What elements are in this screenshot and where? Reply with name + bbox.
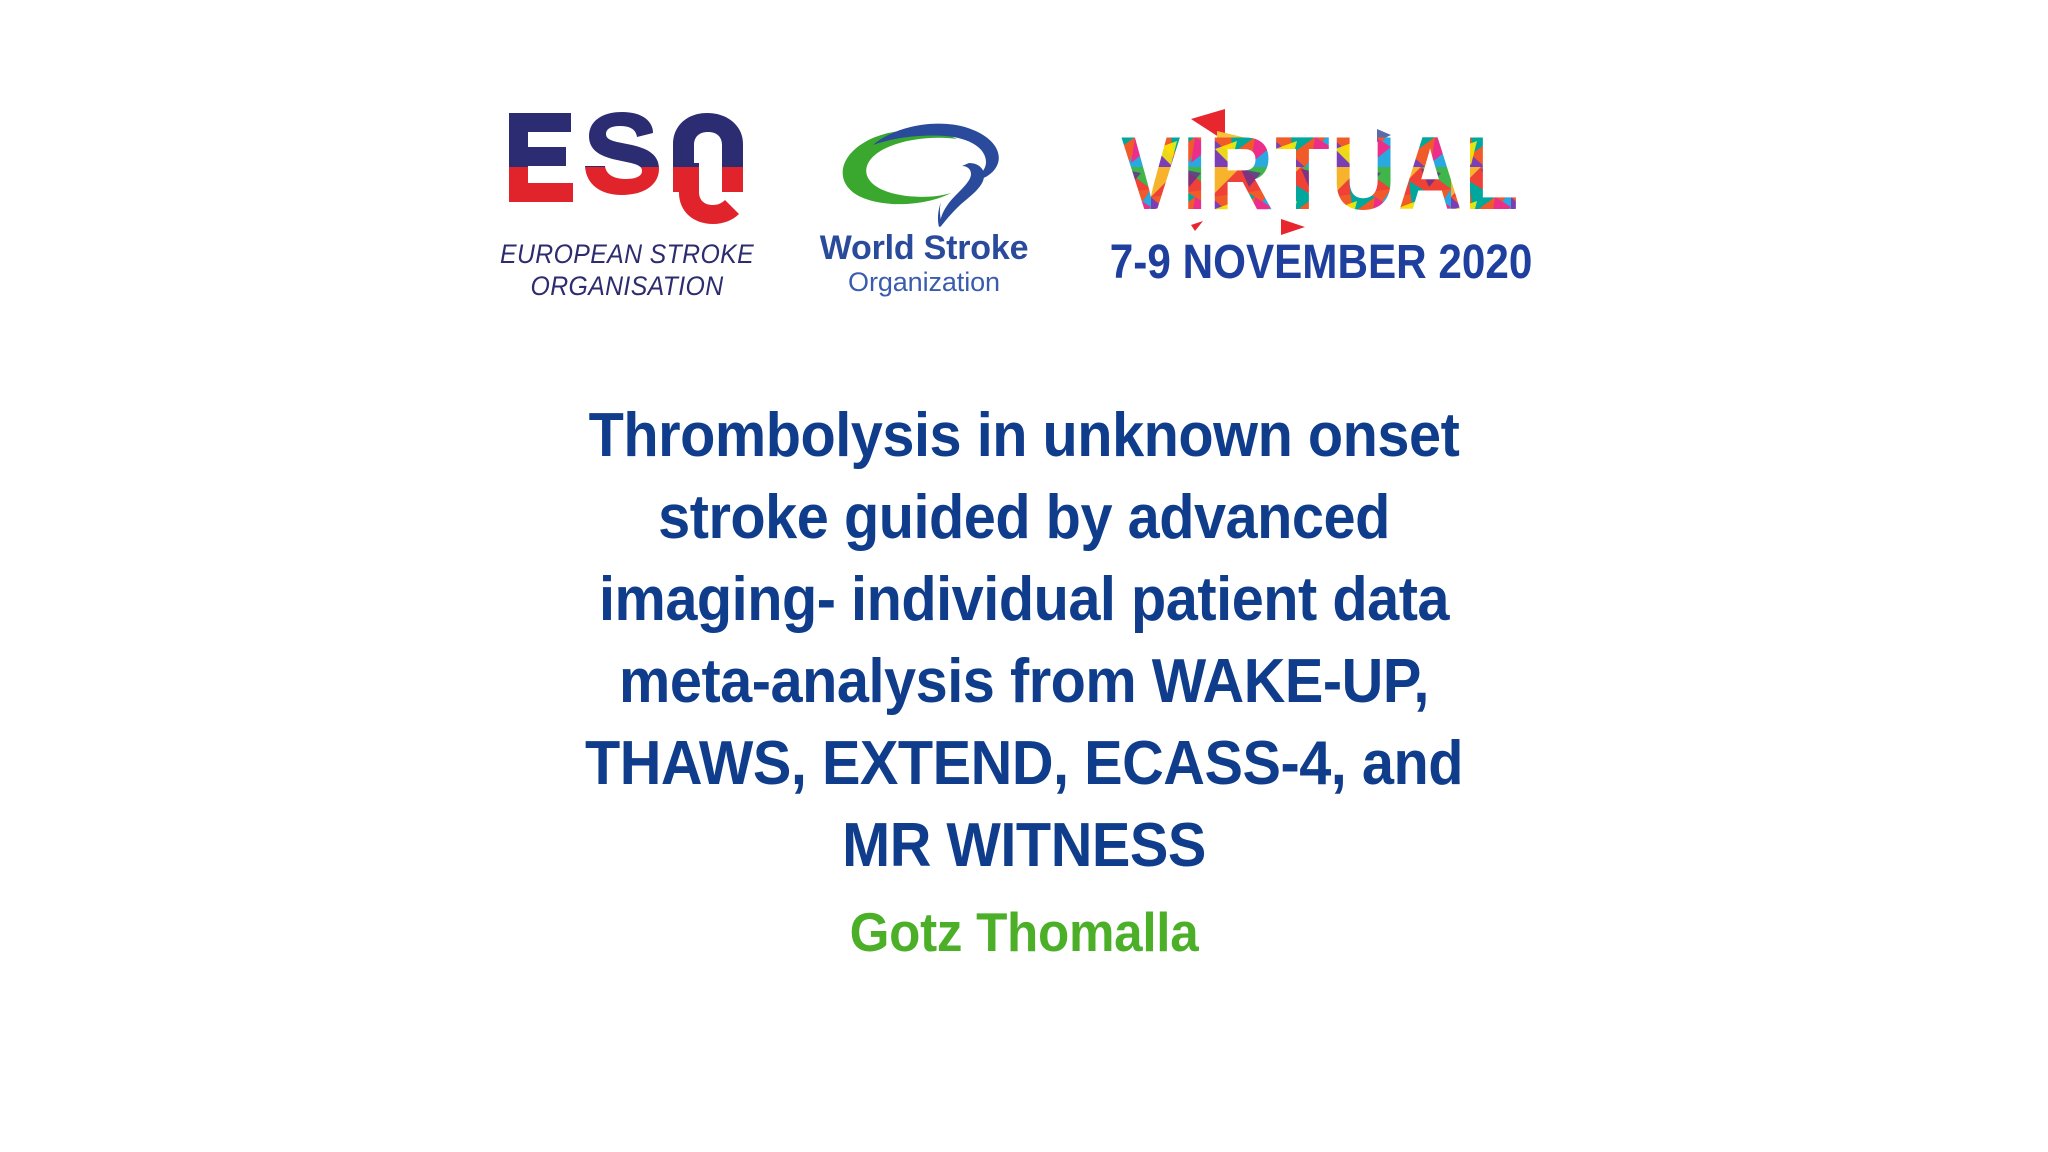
virtual-date: 7-9 NOVEMBER 2020 [1110,239,1533,287]
wso-logomark-icon [829,109,1019,231]
title-line: MR WITNESS [508,805,1540,887]
logo-band: EUROPEAN STROKE ORGANISATION World Strok… [0,105,2048,303]
eso-logomark-icon [501,105,753,231]
title-line: stroke guided by advanced [508,477,1540,559]
title-line: Thrombolysis in unknown onset [508,395,1540,477]
virtual-logo: VIRTUAL 7-9 NOVEMBER 2020 [1086,105,1556,287]
title-line: meta-analysis from WAKE-UP, [508,641,1540,723]
eso-name: EUROPEAN STROKE ORGANISATION [500,239,754,303]
wso-logo: World Stroke Organization [804,105,1044,298]
wso-name: World Stroke [820,231,1029,267]
presentation-title-slide: EUROPEAN STROKE ORGANISATION World Strok… [0,0,2048,1152]
author-name: Gotz Thomalla [508,899,1540,965]
title-line: THAWS, EXTEND, ECASS-4, and [508,723,1540,805]
wso-subname: Organization [848,267,1000,298]
title-block: Thrombolysis in unknown onset stroke gui… [469,395,1579,965]
eso-logo: EUROPEAN STROKE ORGANISATION [492,105,762,303]
eso-name-line2: ORGANISATION [500,271,754,303]
title-line: imaging- individual patient data [508,559,1540,641]
virtual-wordmark-icon: VIRTUAL [1091,107,1551,237]
eso-name-line1: EUROPEAN STROKE [500,239,754,271]
